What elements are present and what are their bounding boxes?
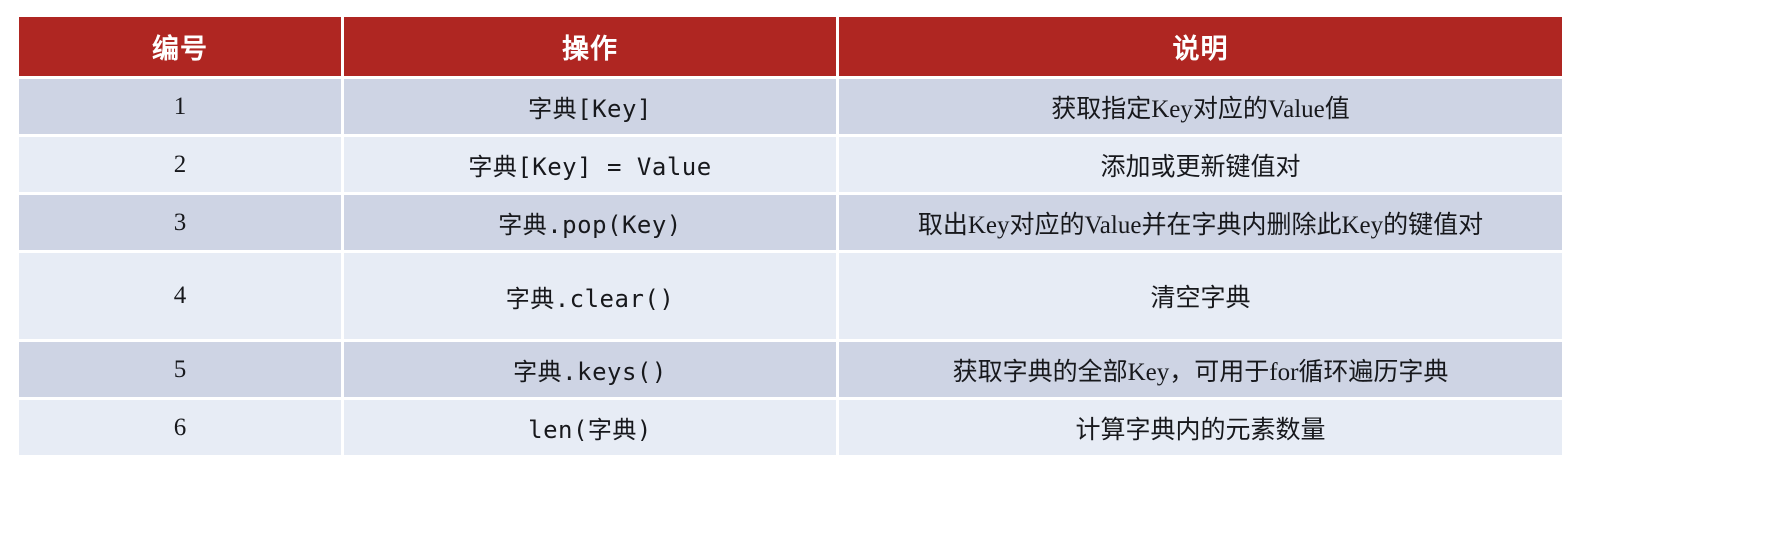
cell-description: 取出Key对应的Value并在字典内删除此Key的键值对 [839,195,1562,250]
table-row: 2 字典[Key] = Value 添加或更新键值对 [19,137,1562,192]
cell-number: 6 [19,400,341,455]
table-header-row: 编号 操作 说明 [19,17,1562,76]
cell-operation: len(字典) [344,400,836,455]
column-header-description: 说明 [839,17,1562,76]
cell-operation: 字典[Key] [344,79,836,134]
cell-operation: 字典.keys() [344,342,836,397]
cell-number: 5 [19,342,341,397]
cell-description: 清空字典 [839,253,1562,339]
table-row: 5 字典.keys() 获取字典的全部Key，可用于for循环遍历字典 [19,342,1562,397]
cell-operation: 字典.pop(Key) [344,195,836,250]
column-header-operation: 操作 [344,17,836,76]
cell-description: 计算字典内的元素数量 [839,400,1562,455]
dictionary-operations-table-container: 编号 操作 说明 1 字典[Key] 获取指定Key对应的Value值 2 字典… [16,14,1556,458]
table-row: 6 len(字典) 计算字典内的元素数量 [19,400,1562,455]
cell-number: 2 [19,137,341,192]
cell-number: 4 [19,253,341,339]
cell-number: 3 [19,195,341,250]
cell-operation: 字典.clear() [344,253,836,339]
cell-description: 获取指定Key对应的Value值 [839,79,1562,134]
cell-description: 获取字典的全部Key，可用于for循环遍历字典 [839,342,1562,397]
table-row: 1 字典[Key] 获取指定Key对应的Value值 [19,79,1562,134]
table-row: 4 字典.clear() 清空字典 [19,253,1562,339]
cell-operation: 字典[Key] = Value [344,137,836,192]
table-body: 1 字典[Key] 获取指定Key对应的Value值 2 字典[Key] = V… [19,79,1562,455]
table-row: 3 字典.pop(Key) 取出Key对应的Value并在字典内删除此Key的键… [19,195,1562,250]
table-header: 编号 操作 说明 [19,17,1562,76]
cell-description: 添加或更新键值对 [839,137,1562,192]
column-header-number: 编号 [19,17,341,76]
dictionary-operations-table: 编号 操作 说明 1 字典[Key] 获取指定Key对应的Value值 2 字典… [16,14,1565,458]
cell-number: 1 [19,79,341,134]
